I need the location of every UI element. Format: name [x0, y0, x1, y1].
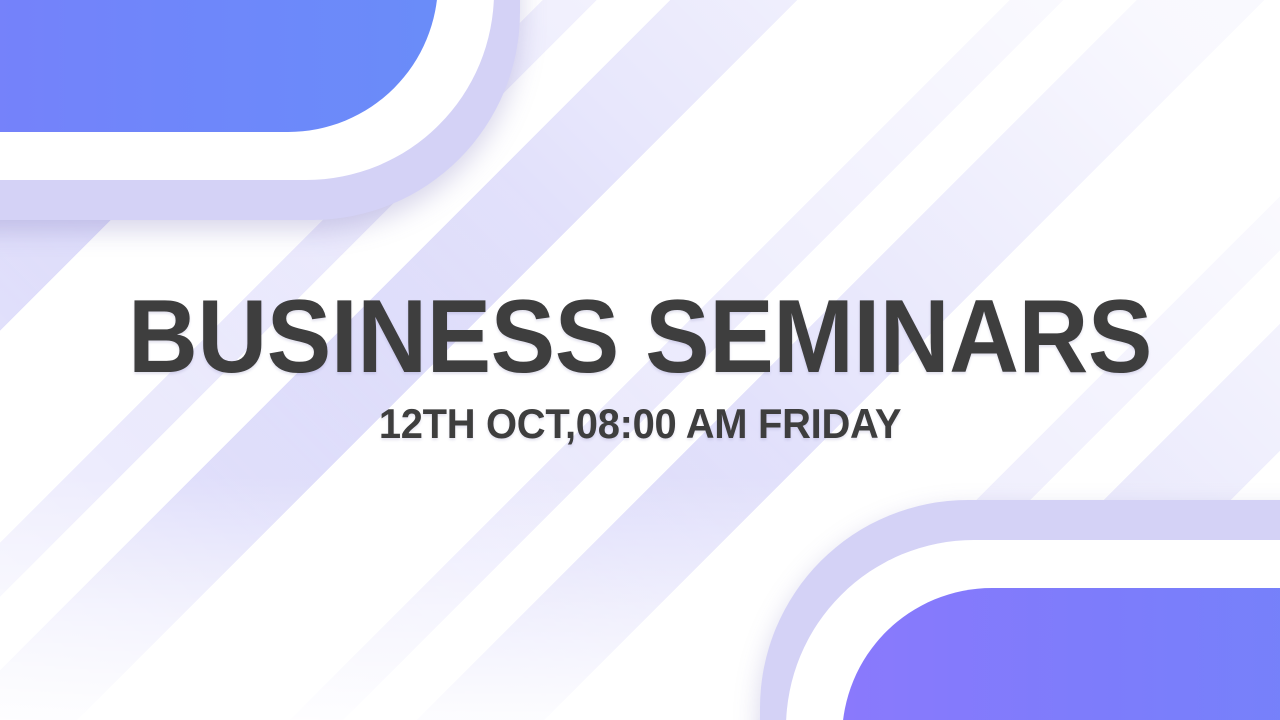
bottom-right-gradient-shape	[760, 500, 1280, 720]
event-title: BUSINESS SEMINARS	[45, 284, 1235, 390]
poster-text-block: BUSINESS SEMINARS 12TH OCT,08:00 AM FRID…	[0, 284, 1280, 446]
event-datetime-subtitle: 12TH OCT,08:00 AM FRIDAY	[32, 402, 1248, 446]
top-left-gradient-shape	[0, 0, 520, 220]
poster-canvas: BUSINESS SEMINARS 12TH OCT,08:00 AM FRID…	[0, 0, 1280, 720]
